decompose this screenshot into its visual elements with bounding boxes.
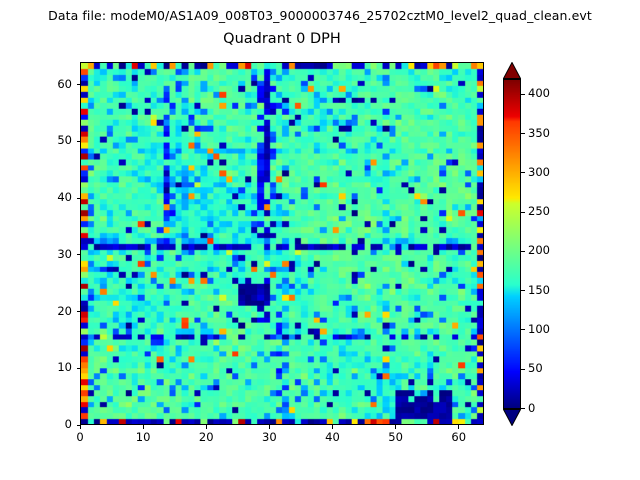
x-tick-mark (206, 425, 207, 429)
y-tick-mark (77, 84, 81, 85)
colorbar-tick-mark (521, 251, 525, 252)
colorbar-tick-label: 300 (528, 165, 550, 179)
y-tick-mark (77, 425, 81, 426)
y-tick-label: 10 (34, 360, 72, 374)
colorbar-tick-mark (521, 212, 525, 213)
heatmap-axes[interactable] (80, 62, 484, 425)
y-tick-mark (77, 368, 81, 369)
y-tick-label: 40 (34, 190, 72, 204)
y-tick-label: 0 (34, 417, 72, 431)
x-tick-mark (332, 425, 333, 429)
page-title: Quadrant 0 DPH (80, 31, 484, 47)
x-tick-mark (395, 425, 396, 429)
data-file-suptitle: Data file: modeM0/AS1A09_008T03_90000037… (0, 8, 640, 23)
colorbar-gradient (503, 79, 521, 409)
matplotlib-figure: Data file: modeM0/AS1A09_008T03_90000037… (0, 0, 640, 480)
x-tick-label: 0 (60, 430, 100, 444)
colorbar-extend-min-arrow (503, 409, 521, 426)
x-tick-mark (458, 425, 459, 429)
colorbar-tick-label: 200 (528, 243, 550, 257)
colorbar[interactable]: 050100150200250300350400 (503, 62, 521, 425)
colorbar-tick-label: 0 (528, 401, 535, 415)
x-tick-mark (269, 425, 270, 429)
y-tick-mark (77, 141, 81, 142)
x-tick-label: 40 (313, 430, 353, 444)
y-tick-mark (77, 198, 81, 199)
colorbar-tick-mark (521, 172, 525, 173)
x-tick-label: 60 (439, 430, 479, 444)
colorbar-tick-label: 150 (528, 283, 550, 297)
x-tick-label: 10 (123, 430, 163, 444)
x-tick-label: 50 (376, 430, 416, 444)
y-tick-label: 30 (34, 247, 72, 261)
y-tick-label: 20 (34, 304, 72, 318)
x-tick-label: 20 (186, 430, 226, 444)
y-tick-mark (77, 254, 81, 255)
colorbar-tick-mark (521, 94, 525, 95)
colorbar-gradient-canvas (504, 80, 520, 408)
colorbar-tick-mark (521, 329, 525, 330)
y-tick-label: 60 (34, 77, 72, 91)
colorbar-extend-max-arrow (503, 62, 521, 79)
colorbar-tick-label: 50 (528, 361, 543, 375)
y-tick-mark (77, 311, 81, 312)
x-tick-mark (80, 425, 81, 429)
colorbar-tick-mark (521, 408, 525, 409)
colorbar-tick-mark (521, 133, 525, 134)
heatmap-image[interactable] (81, 63, 483, 424)
x-tick-label: 30 (249, 430, 289, 444)
y-tick-label: 50 (34, 133, 72, 147)
x-tick-mark (143, 425, 144, 429)
colorbar-tick-label: 100 (528, 322, 550, 336)
colorbar-tick-label: 400 (528, 86, 550, 100)
colorbar-tick-label: 250 (528, 204, 550, 218)
colorbar-tick-mark (521, 290, 525, 291)
colorbar-tick-mark (521, 369, 525, 370)
colorbar-tick-label: 350 (528, 126, 550, 140)
